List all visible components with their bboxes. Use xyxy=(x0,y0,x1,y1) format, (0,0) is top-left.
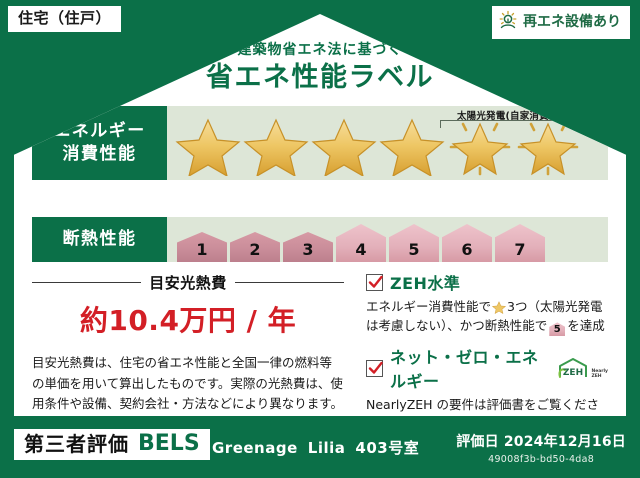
zeh-logo-subtext: Nearly ZEH xyxy=(591,370,608,379)
title-main: 省エネ性能ラベル xyxy=(14,62,626,94)
title-subtitle: 建築物省エネ法に基づく xyxy=(14,42,626,59)
label-title: 建築物省エネ法に基づく 省エネ性能ラベル xyxy=(14,42,626,94)
zeh-standard-head: ZEH水準 xyxy=(366,270,608,294)
insulation-level-1: 1 xyxy=(177,232,227,262)
evaluation-id: 49008f3b-bd50-4da8 xyxy=(456,454,626,465)
star-1 xyxy=(175,114,241,176)
renewable-energy-badge: 再エネ設備あり xyxy=(492,6,630,39)
footer-bar: 第三者評価 BELS GreenageLilia403号室 評価日 2024年1… xyxy=(0,420,640,478)
label-card: 建築物省エネ法に基づく 省エネ性能ラベル エネルギー 消費性能 xyxy=(14,14,626,416)
evaluation-info: 評価日 2024年12月16日 49008f3b-bd50-4da8 xyxy=(456,431,626,465)
energy-performance-body: 太陽光発電(自家消費)分 xyxy=(167,106,608,180)
evaluation-date: 評価日 2024年12月16日 xyxy=(456,431,626,451)
check-icon xyxy=(368,361,383,376)
net-zero-head: ネット・ゼロ・エネルギー ZEH Nearly ZEH xyxy=(366,344,608,392)
solar-bracket xyxy=(440,120,598,128)
insulation-level-5: 5 xyxy=(389,224,439,262)
star-2 xyxy=(243,114,309,176)
insulation-level-4: 4 xyxy=(336,224,386,262)
zeh-section: ZEH水準 エネルギー消費性能で3つ（太陽光発電は考慮しない）、かつ断熱性能で5… xyxy=(354,270,608,442)
energy-label-line2: 消費性能 xyxy=(63,143,137,166)
renewable-badge-label: 再エネ設備あり xyxy=(523,15,621,30)
lower-section: 目安光熱費 約10.4万円 / 年 目安光熱費は、住宅の省エネ性能と全国一律の燃… xyxy=(32,270,608,442)
net-zero-title: ネット・ゼロ・エネルギー xyxy=(390,344,547,392)
cost-rule-left xyxy=(32,282,141,284)
insulation-level-6: 6 xyxy=(442,224,492,262)
zeh-logo-sub2: ZEH xyxy=(591,374,601,379)
check-icon xyxy=(368,275,383,290)
zeh-standard-block: ZEH水準 エネルギー消費性能で3つ（太陽光発電は考慮しない）、かつ断熱性能で5… xyxy=(366,270,608,336)
bels-plate: 第三者評価 BELS xyxy=(14,429,210,460)
cost-value: 約10.4万円 / 年 xyxy=(32,299,344,339)
star-3 xyxy=(311,114,377,176)
cost-rule-right xyxy=(235,282,344,284)
cost-note: 目安光熱費は、住宅の省エネ性能と全国一律の燃料等の単価を用いて算出したものです。… xyxy=(32,353,344,415)
building-name: Greenage xyxy=(212,439,298,457)
zeh-standard-desc: エネルギー消費性能で3つ（太陽光発電は考慮しない）、かつ断熱性能で5を達成 xyxy=(366,297,608,336)
energy-performance-label: エネルギー 消費性能 xyxy=(32,106,167,180)
building-info: GreenageLilia403号室 xyxy=(212,437,419,458)
insulation-level-7: 7 xyxy=(495,224,545,262)
insulation-label: 断熱性能 xyxy=(32,217,167,262)
bels-logo: BELS xyxy=(138,433,200,455)
insulation-level-3: 3 xyxy=(283,232,333,262)
zeh-desc-part3: を達成 xyxy=(567,318,605,333)
room-number: 403号室 xyxy=(355,439,419,457)
star-icon xyxy=(492,300,506,314)
zeh-standard-title: ZEH水準 xyxy=(390,270,460,294)
zeh-standard-checkbox[interactable] xyxy=(366,274,383,291)
energy-label-root: 建築物省エネ法に基づく 省エネ性能ラベル エネルギー 消費性能 xyxy=(0,0,640,478)
zeh-desc-part1: エネルギー消費性能で xyxy=(366,299,491,314)
insulation-body: 1 2 3 4 5 6 7 xyxy=(167,217,608,262)
housing-type-tag: 住宅（住戸） xyxy=(8,6,121,32)
zeh-desc-level-chip: 5 xyxy=(549,322,565,336)
cost-section: 目安光熱費 約10.4万円 / 年 目安光熱費は、住宅の省エネ性能と全国一律の燃… xyxy=(32,270,354,442)
sun-icon xyxy=(498,10,518,34)
building-name2: Lilia xyxy=(308,439,346,457)
energy-label-line1: エネルギー xyxy=(53,120,146,143)
zeh-house-logo-icon: ZEH Nearly ZEH xyxy=(556,357,608,379)
insulation-level-2: 2 xyxy=(230,232,280,262)
cost-title: 目安光熱費 xyxy=(149,272,227,293)
cost-heading: 目安光熱費 xyxy=(32,272,344,293)
star-4 xyxy=(379,114,445,176)
svg-text:ZEH: ZEH xyxy=(563,368,583,378)
net-zero-checkbox[interactable] xyxy=(366,360,383,377)
insulation-row: 断熱性能 1 2 3 4 5 6 7 xyxy=(32,217,608,262)
energy-performance-row: エネルギー 消費性能 xyxy=(32,106,608,180)
third-party-eval-label: 第三者評価 xyxy=(24,434,129,454)
insulation-levels: 1 2 3 4 5 6 7 xyxy=(167,217,545,262)
